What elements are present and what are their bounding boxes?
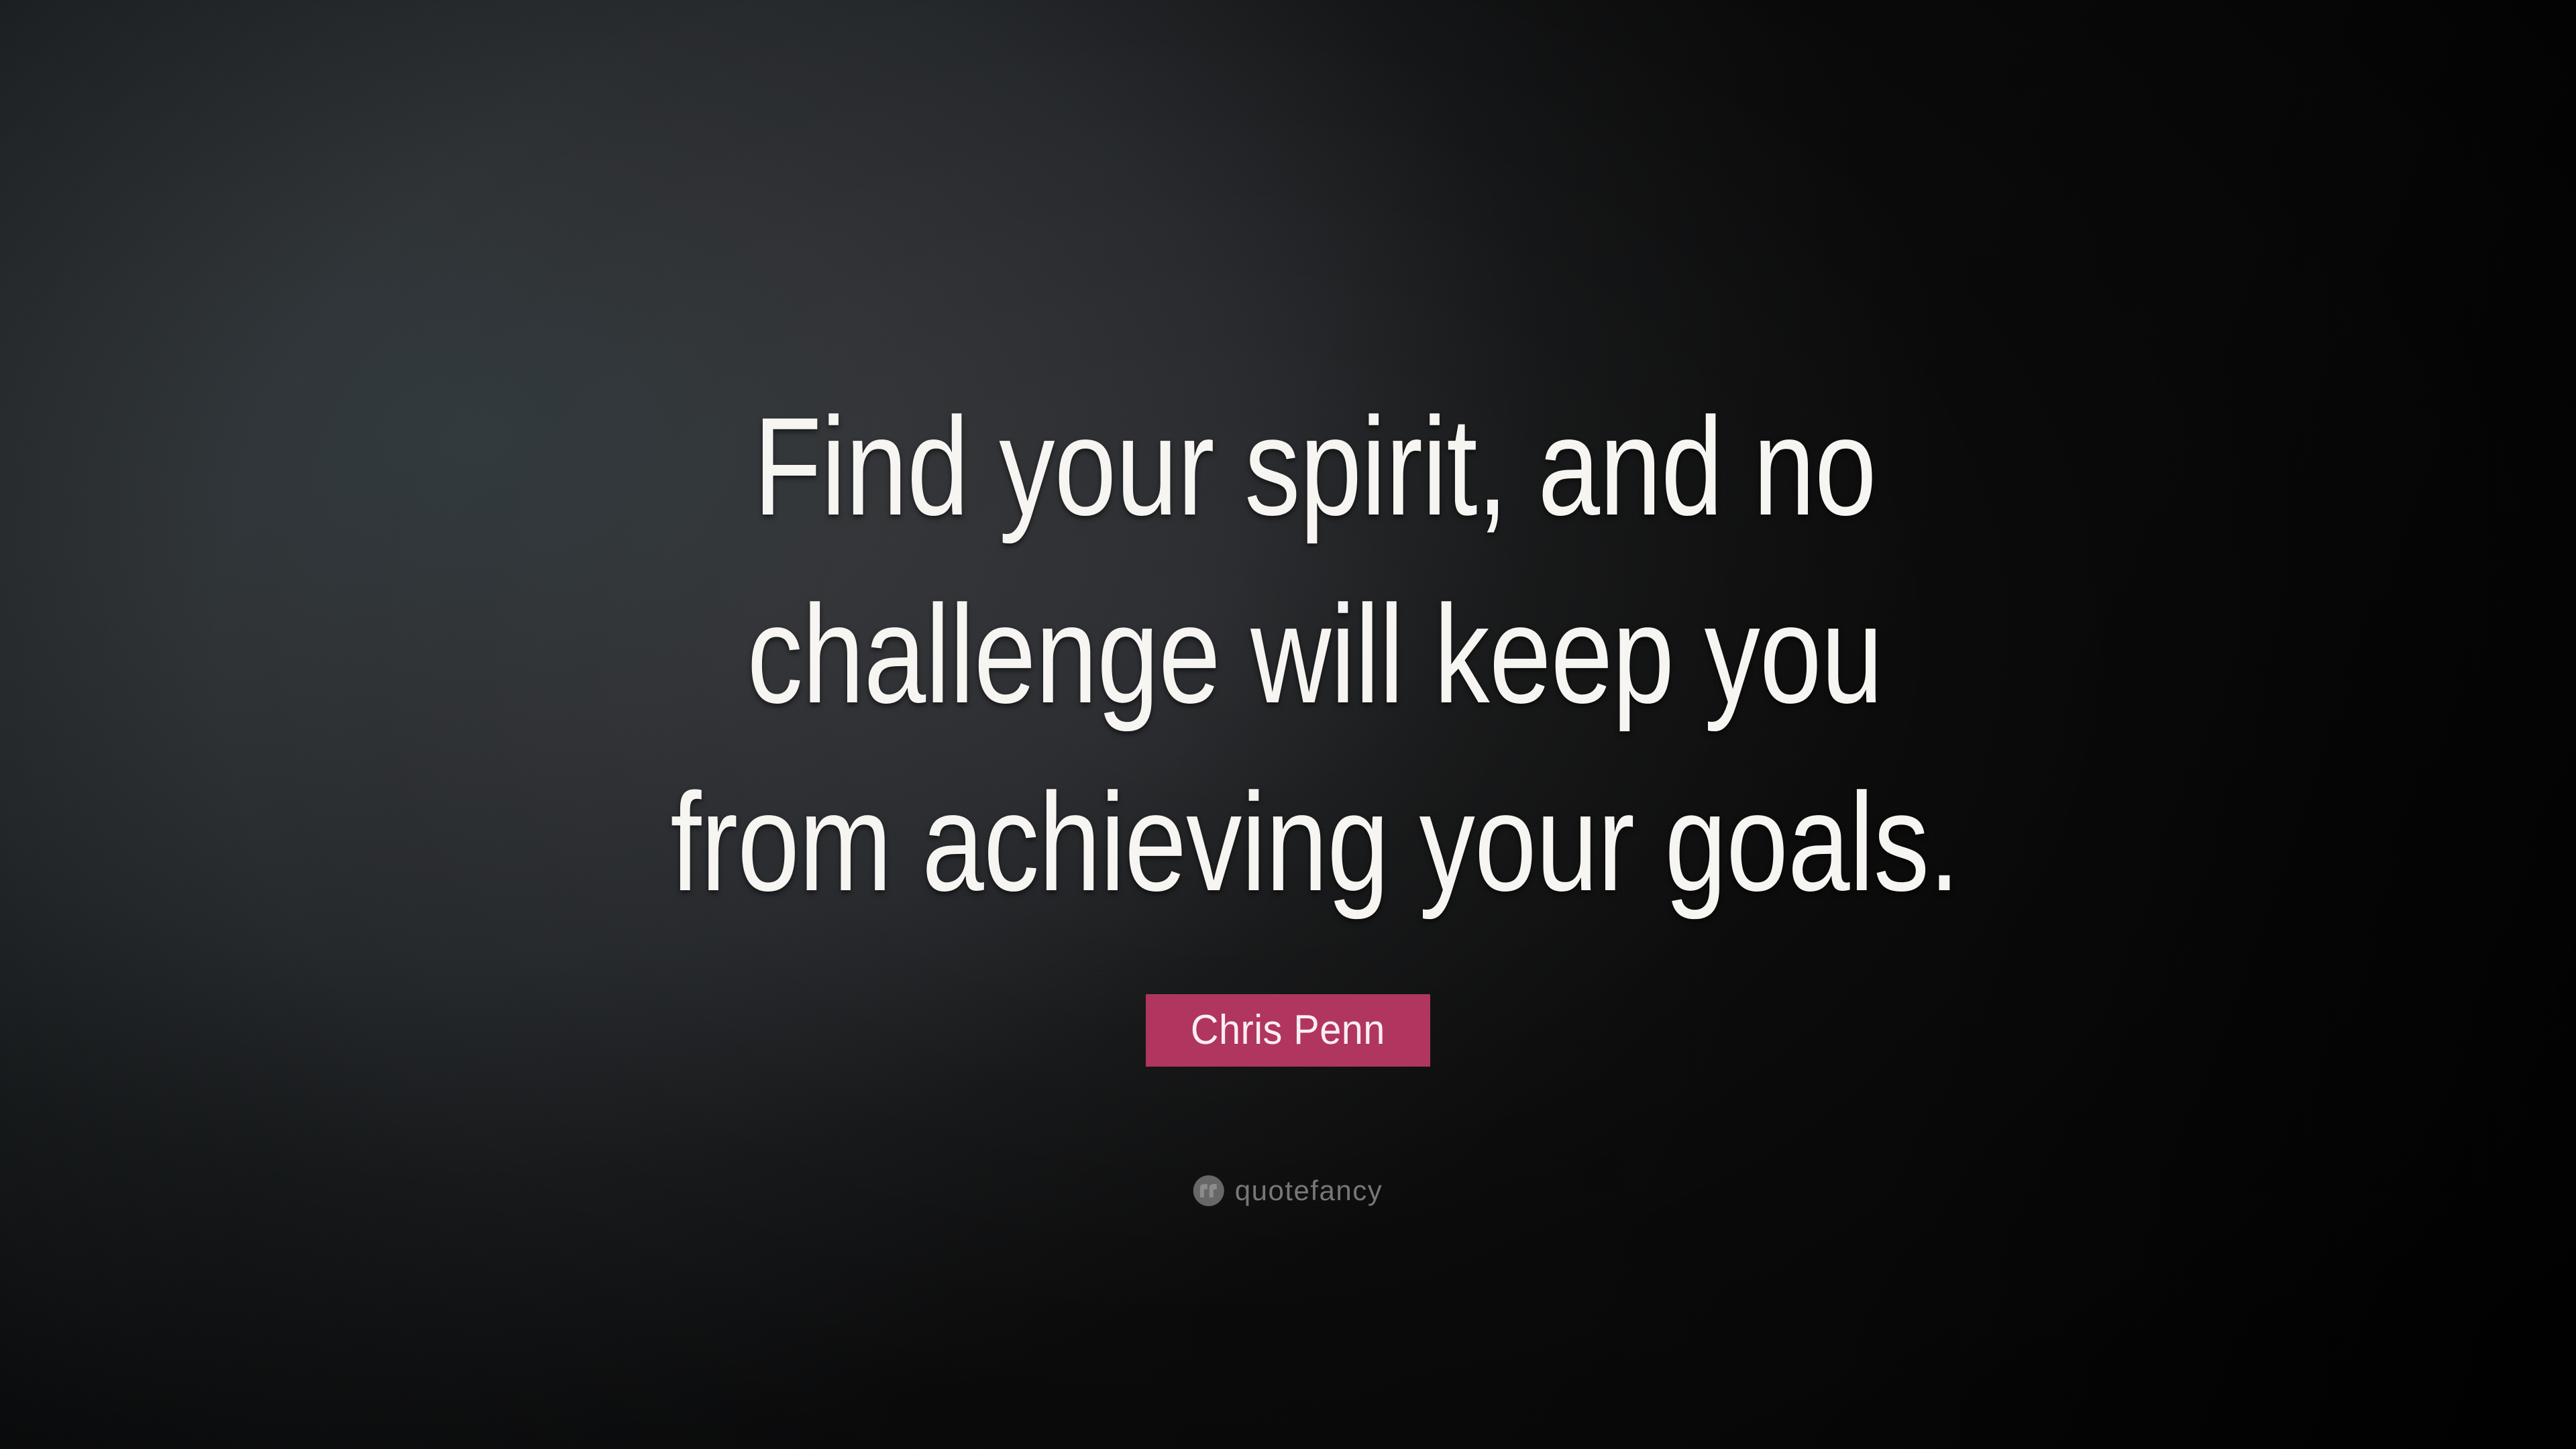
- quotefancy-watermark: quotefancy: [1193, 1175, 1383, 1206]
- quote-line-2: challenge will keep you: [665, 561, 1964, 749]
- author-name: Chris Penn: [1191, 1010, 1385, 1051]
- quote-line-1: Find your spirit, and no: [665, 373, 1964, 561]
- content-layer: Find your spirit, and no challenge will …: [0, 0, 2576, 1449]
- wallpaper-canvas: Find your spirit, and no challenge will …: [0, 0, 2576, 1449]
- quote-line-3: from achieving your goals.: [665, 749, 1964, 936]
- author-badge: Chris Penn: [1146, 994, 1430, 1067]
- quote-text: Find your spirit, and no challenge will …: [503, 373, 2127, 936]
- quotefancy-wordmark: quotefancy: [1235, 1177, 1383, 1205]
- quote-mark-icon: [1193, 1175, 1224, 1206]
